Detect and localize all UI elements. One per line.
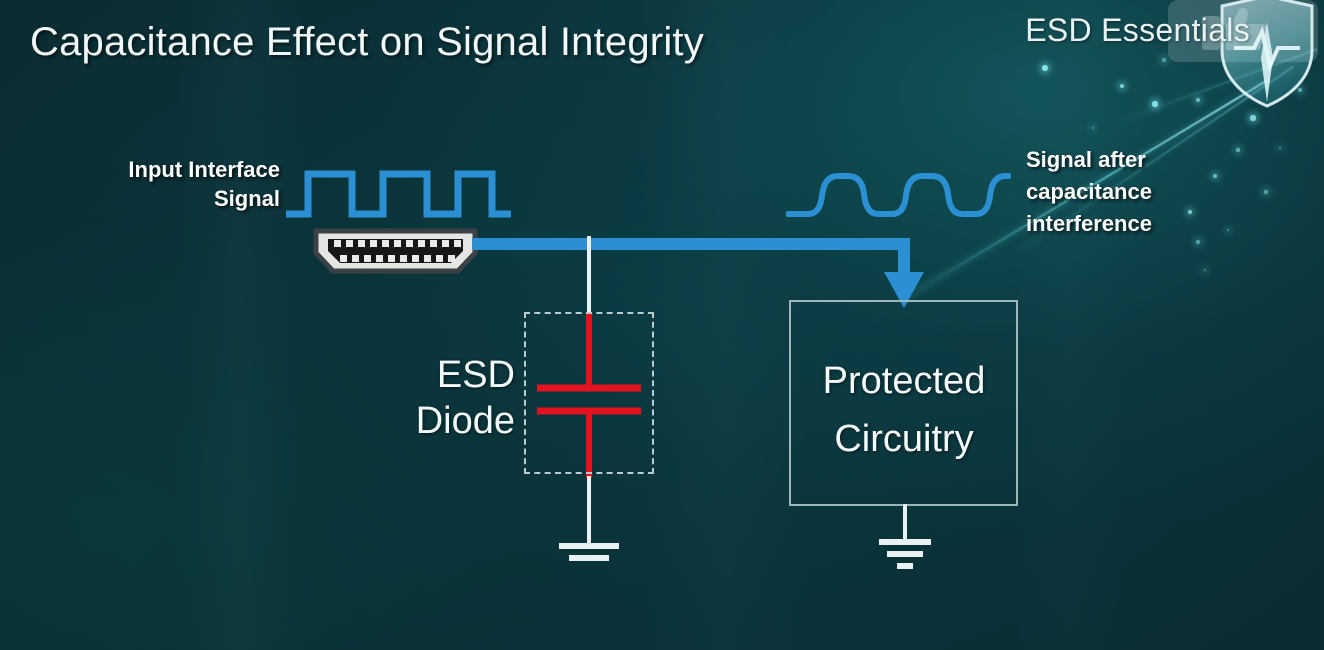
label-signal-after-capacitance-interference: Signal after capacitance interference bbox=[1026, 144, 1256, 240]
label-line: Circuitry bbox=[790, 410, 1018, 468]
background-dot bbox=[1042, 65, 1048, 71]
background-dot bbox=[1196, 240, 1200, 244]
label-line: ESD bbox=[330, 352, 515, 398]
slide-canvas: Capacitance Effect on Signal Integrity E… bbox=[0, 0, 1324, 650]
background-dot bbox=[1196, 98, 1200, 102]
label-protected-circuitry: Protected Circuitry bbox=[790, 352, 1018, 468]
waveform-output-rounded bbox=[786, 166, 1011, 222]
background-dot bbox=[1162, 58, 1165, 61]
label-line: Protected bbox=[790, 352, 1018, 410]
label-line: capacitance bbox=[1026, 176, 1256, 208]
ground-symbol-icon bbox=[876, 504, 936, 570]
background-streak bbox=[1010, 0, 1130, 650]
background-dot bbox=[1250, 115, 1255, 120]
label-line: Signal bbox=[60, 184, 280, 213]
label-esd-diode: ESD Diode bbox=[330, 352, 515, 444]
background-dot bbox=[1092, 127, 1095, 130]
label-line: interference bbox=[1026, 208, 1256, 240]
ground-symbol-icon bbox=[559, 546, 619, 566]
label-line: Diode bbox=[330, 398, 515, 444]
esd-diode-boundary-box bbox=[524, 312, 654, 474]
brand-title: ESD Essentials bbox=[1025, 12, 1250, 49]
background-streak bbox=[175, 0, 305, 650]
background-dot bbox=[1279, 147, 1282, 150]
label-line: Signal after bbox=[1026, 144, 1256, 176]
label-input-interface-signal: Input Interface Signal bbox=[60, 155, 280, 213]
label-line: Input Interface bbox=[60, 155, 280, 184]
background-dot bbox=[1152, 101, 1157, 106]
page-title: Capacitance Effect on Signal Integrity bbox=[30, 20, 704, 65]
background-streak bbox=[640, 0, 810, 650]
waveform-input-square bbox=[286, 166, 511, 222]
hdmi-connector-icon bbox=[308, 227, 483, 277]
background-dot bbox=[1204, 269, 1207, 272]
background-dot bbox=[1264, 190, 1267, 193]
background-dot bbox=[1120, 84, 1124, 88]
